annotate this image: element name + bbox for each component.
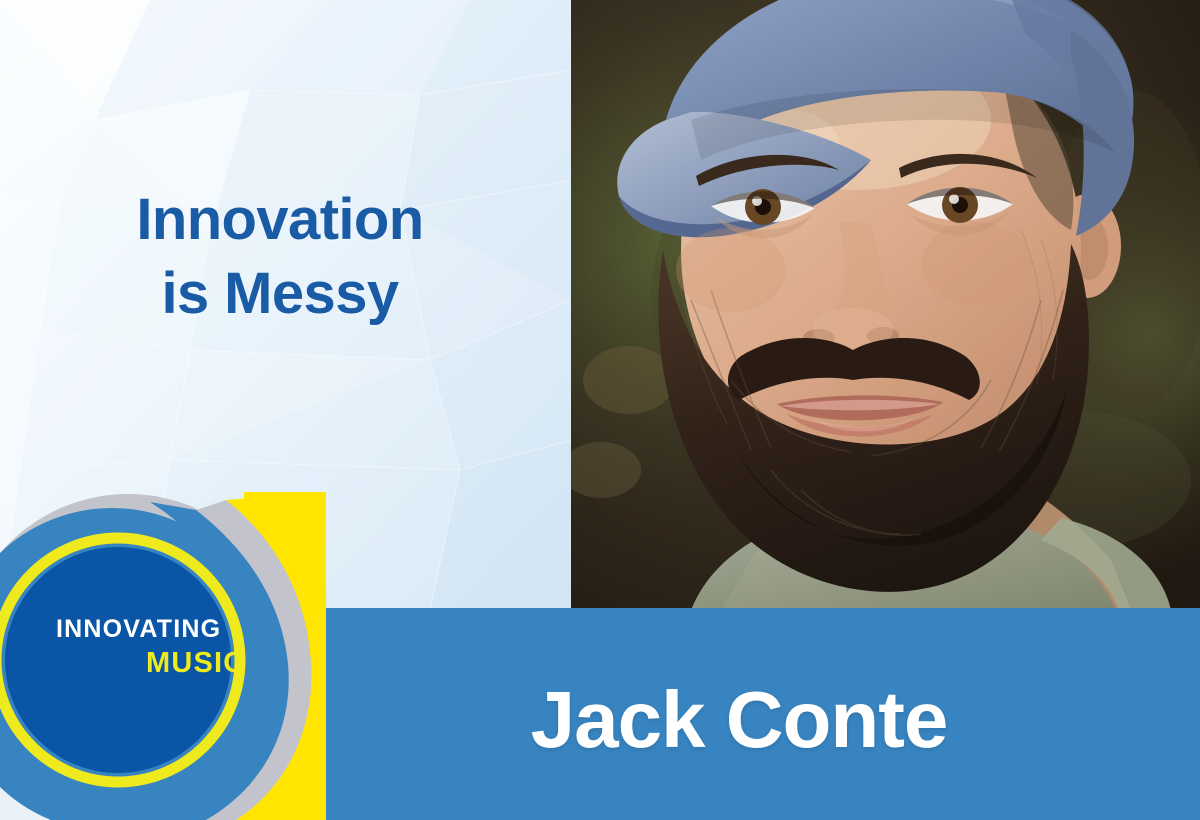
slide-title: Innovation is Messy xyxy=(40,183,520,331)
innovating-music-logo[interactable]: INNOVATING MUSIC xyxy=(0,492,326,820)
speaker-photo xyxy=(571,0,1200,610)
speaker-name: Jack Conte xyxy=(531,680,948,760)
speaker-name-banner: Jack Conte xyxy=(326,608,1200,820)
portrait-illustration-icon xyxy=(571,0,1200,610)
logo-mark-icon xyxy=(0,492,326,820)
speaker-announcement-slide: Innovation is Messy xyxy=(0,0,1200,820)
